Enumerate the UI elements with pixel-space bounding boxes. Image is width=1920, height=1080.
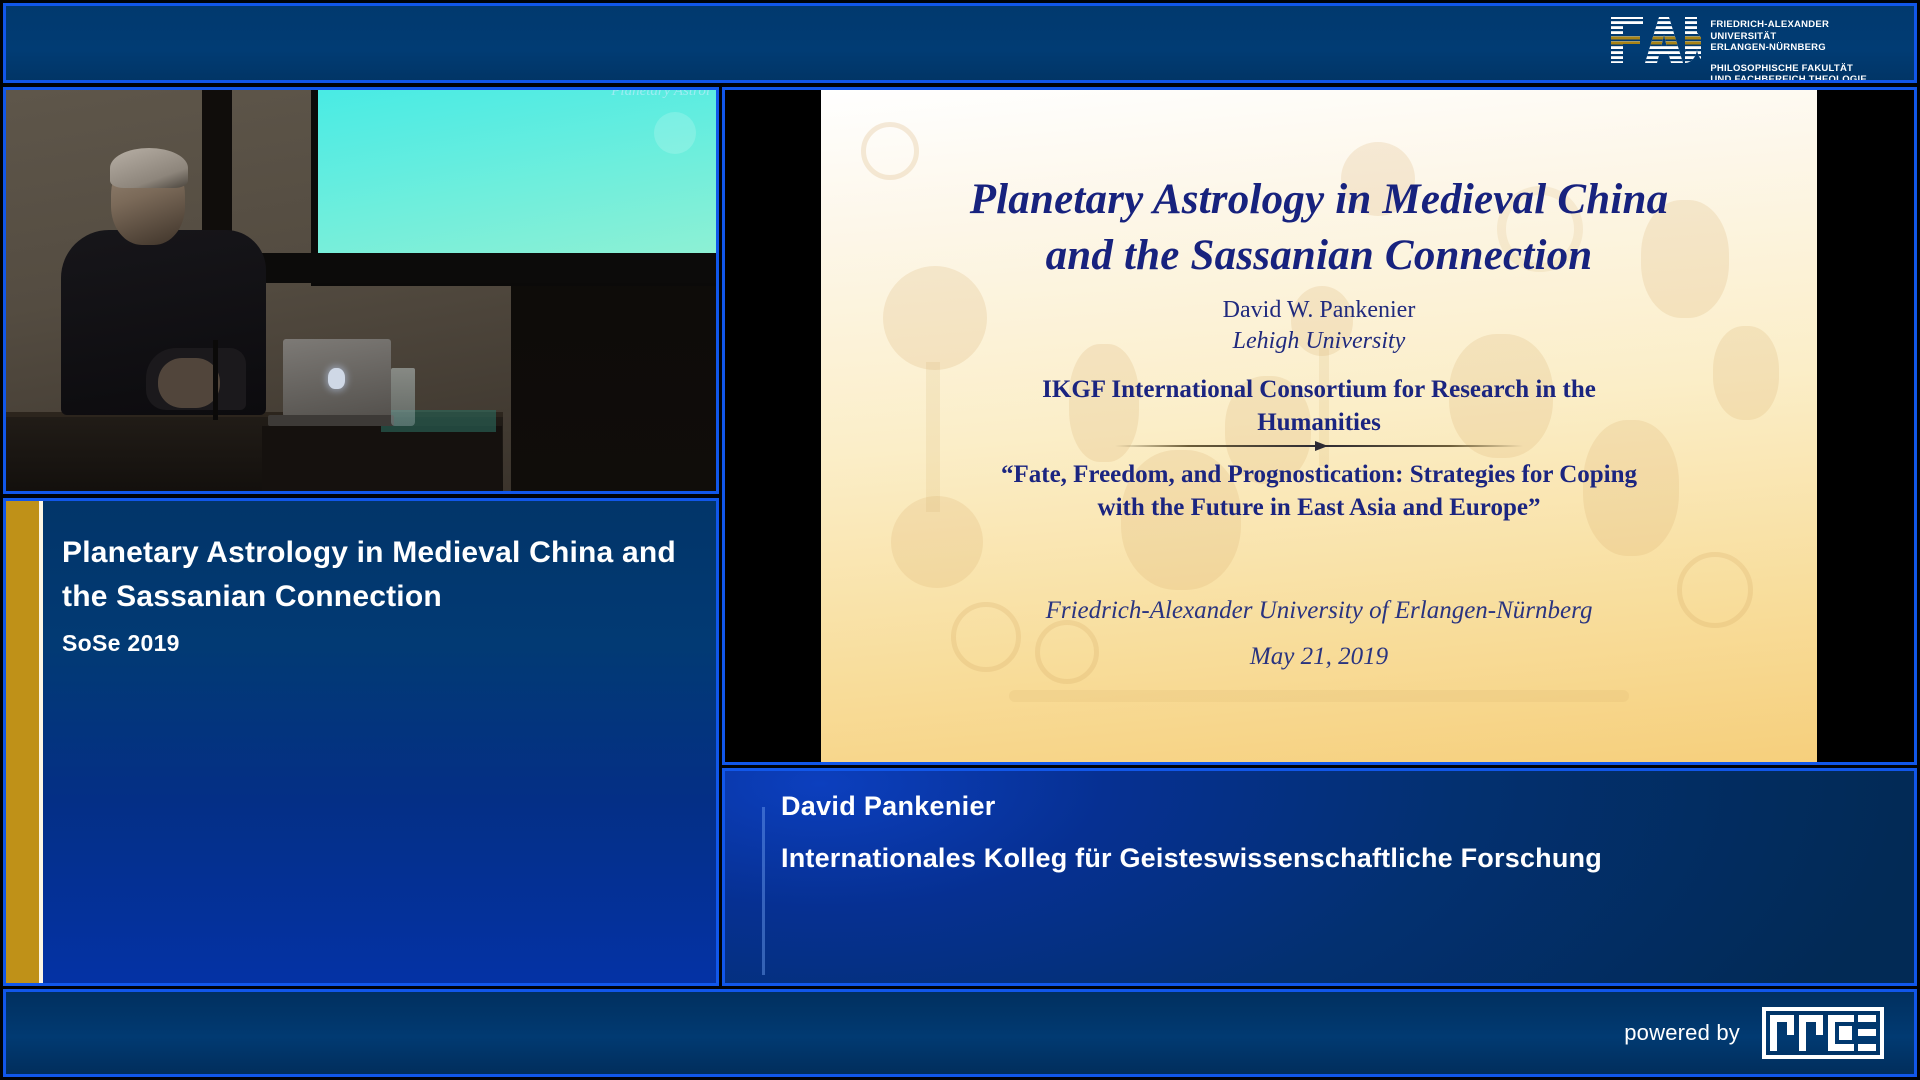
fau-faculty-line-1: PHILOSOPHISCHE FAKULTÄT bbox=[1710, 63, 1867, 75]
lecture-term-label: SoSe 2019 bbox=[62, 630, 690, 657]
slide-watermark-shape bbox=[1009, 690, 1629, 702]
slide-video-panel[interactable]: Planetary Astrology in Medieval China an… bbox=[722, 87, 1917, 765]
water-glass bbox=[391, 368, 415, 426]
presenter-hand bbox=[158, 358, 220, 408]
rrze-logo-icon[interactable] bbox=[1762, 1007, 1884, 1059]
lecture-title-panel: Planetary Astrology in Medieval China an… bbox=[3, 498, 719, 986]
slide-title-line-1: Planetary Astrology in Medieval China bbox=[821, 172, 1817, 228]
fau-logo-icon bbox=[1609, 15, 1701, 65]
laptop-base bbox=[268, 415, 394, 426]
slide-divider-ornament bbox=[1115, 445, 1523, 447]
speaker-info-panel: David Pankenier Internationales Kolleg f… bbox=[722, 768, 1917, 986]
speaker-video-panel[interactable]: Planetary Astrol bbox=[3, 87, 719, 494]
presenter-hair bbox=[110, 148, 188, 188]
powered-by-label: powered by bbox=[1624, 1020, 1740, 1046]
speaker-name: David Pankenier bbox=[781, 791, 996, 822]
slide-title-line-2: and the Sassanian Connection bbox=[821, 228, 1817, 284]
laptop-apple-logo-icon bbox=[328, 368, 345, 389]
lecture-title-heading: Planetary Astrology in Medieval China an… bbox=[62, 531, 690, 619]
page-footer: powered by bbox=[3, 989, 1917, 1077]
speaker-organization: Internationales Kolleg für Geisteswissen… bbox=[781, 843, 1602, 874]
slide-author-name: David W. Pankenier bbox=[821, 295, 1817, 326]
video-frame: Planetary Astrol bbox=[6, 90, 716, 491]
slide-consortium-block: IKGF International Consortium for Resear… bbox=[821, 373, 1817, 439]
lectern-front bbox=[262, 426, 502, 494]
slide-author-block: David W. Pankenier Lehigh University bbox=[821, 295, 1817, 357]
slide-venue-name: Friedrich-Alexander University of Erlang… bbox=[821, 588, 1817, 634]
slide-author-affiliation: Lehigh University bbox=[821, 326, 1817, 357]
page-header: FRIEDRICH-ALEXANDER UNIVERSITÄT ERLANGEN… bbox=[3, 3, 1917, 83]
projection-watermark-icon bbox=[654, 112, 696, 154]
gold-accent-bar-edge bbox=[39, 501, 43, 983]
gold-accent-bar bbox=[6, 501, 39, 983]
slide-theme-line-1: “Fate, Freedom, and Prognostication: Str… bbox=[821, 458, 1817, 491]
slide-theme-block: “Fate, Freedom, and Prognostication: Str… bbox=[821, 458, 1817, 524]
slide-consortium-line-2: Humanities bbox=[821, 406, 1817, 439]
slide-venue-block: Friedrich-Alexander University of Erlang… bbox=[821, 588, 1817, 680]
fau-wordmark-text: FRIEDRICH-ALEXANDER UNIVERSITÄT ERLANGEN… bbox=[1710, 15, 1867, 83]
slide-date: May 21, 2019 bbox=[821, 634, 1817, 680]
microphone-stand bbox=[213, 340, 218, 420]
projection-screen: Planetary Astrol bbox=[318, 90, 718, 253]
lecture-title-text-block: Planetary Astrology in Medieval China an… bbox=[62, 531, 690, 657]
fau-faculty-line-2: UND FACHBEREICH THEOLOGIE bbox=[1710, 74, 1867, 83]
fau-institution-line-1: FRIEDRICH-ALEXANDER bbox=[1710, 19, 1867, 31]
slide-consortium-line-1: IKGF International Consortium for Resear… bbox=[821, 373, 1817, 406]
slide-content: Planetary Astrology in Medieval China an… bbox=[821, 90, 1817, 762]
fau-institution-line-3: ERLANGEN-NÜRNBERG bbox=[1710, 42, 1867, 54]
fau-branding: FRIEDRICH-ALEXANDER UNIVERSITÄT ERLANGEN… bbox=[1609, 15, 1867, 83]
projection-screen-shadow bbox=[232, 253, 719, 283]
slide-title: Planetary Astrology in Medieval China an… bbox=[821, 172, 1817, 284]
speaker-panel-divider bbox=[762, 807, 765, 975]
fau-institution-line-2: UNIVERSITÄT bbox=[1710, 31, 1867, 43]
powered-by-block: powered by bbox=[1624, 1007, 1884, 1059]
projection-overlay-text: Planetary Astrol bbox=[611, 87, 710, 100]
lecture-player-stage: FRIEDRICH-ALEXANDER UNIVERSITÄT ERLANGEN… bbox=[0, 0, 1920, 1080]
slide-theme-line-2: with the Future in East Asia and Europe” bbox=[821, 491, 1817, 524]
